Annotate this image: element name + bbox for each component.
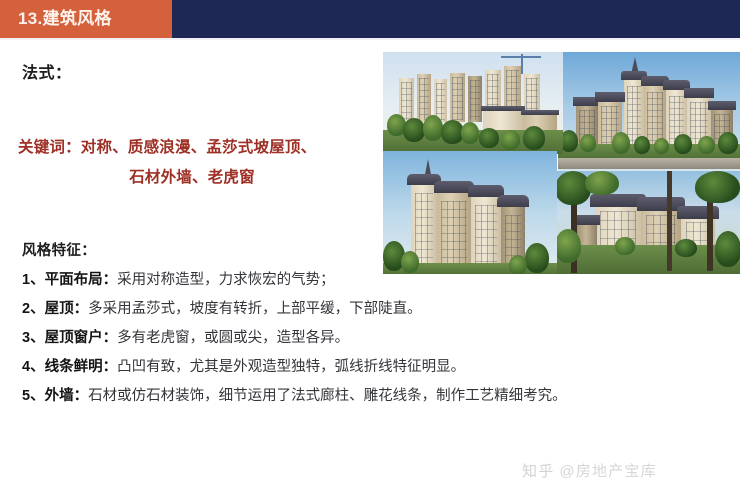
tree xyxy=(674,134,692,154)
tower xyxy=(468,76,482,122)
main-facade xyxy=(437,191,471,274)
crane-jib-icon xyxy=(501,56,541,58)
style-name-heading: 法式： xyxy=(22,59,72,83)
feature-text: 石材或仿石材装饰，细节运用了法式廊柱、雕花线条，制作工艺精细考究。 xyxy=(88,388,567,404)
keywords-line-2: 石材外墙、老虎窗 xyxy=(18,163,384,193)
keywords-block: 关键词：对称、质感浪漫、孟莎式坡屋顶、 石材外墙、老虎窗 xyxy=(18,133,384,193)
shrub xyxy=(615,237,635,255)
tree xyxy=(580,134,596,152)
tree xyxy=(509,255,527,274)
tree xyxy=(718,132,738,154)
high-rise-towers-rendering xyxy=(383,52,563,154)
features-list: 1、平面布局：采用对称造型，力求恢宏的气势； 2、屋顶：多采用孟莎式，坡度有转折… xyxy=(22,266,722,411)
watermark: 知乎@房地产宝库 xyxy=(522,460,657,481)
feature-text: 多有老虎窗，或圆或尖，造型各异。 xyxy=(117,330,349,346)
feature-label: 线条鲜明： xyxy=(45,359,118,375)
section-tab-label: 13.建筑风格 xyxy=(18,0,112,38)
chateau-villa-rendering xyxy=(555,171,740,274)
feature-label: 外墙： xyxy=(45,388,89,404)
tree xyxy=(612,132,630,154)
tree xyxy=(401,251,419,273)
section-tab: 13.建筑风格 xyxy=(0,0,172,38)
shrub xyxy=(715,231,740,267)
tree xyxy=(698,136,715,154)
mid-rise-mansard-block-rendering xyxy=(558,52,740,174)
tree-trunk xyxy=(667,171,672,271)
tree-canopy xyxy=(695,171,740,203)
feature-label: 平面布局： xyxy=(45,272,118,288)
feature-item: 5、外墙：石材或仿石材装饰，细节运用了法式廊柱、雕花线条，制作工艺精细考究。 xyxy=(22,382,722,411)
tree xyxy=(523,126,545,150)
feature-text: 采用对称造型，力求恢宏的气势； xyxy=(117,272,335,288)
slide-header: 13.建筑风格 xyxy=(0,0,740,38)
feature-label: 屋顶： xyxy=(45,301,89,317)
driveway xyxy=(558,158,740,169)
feature-label: 屋顶窗户： xyxy=(45,330,118,346)
feature-number: 5、 xyxy=(22,388,45,404)
tree xyxy=(461,122,479,144)
feature-item: 2、屋顶：多采用孟莎式，坡度有转折，上部平缓，下部陡直。 xyxy=(22,295,722,324)
shrub xyxy=(555,229,581,263)
feature-number: 3、 xyxy=(22,330,45,346)
tree xyxy=(501,130,520,150)
watermark-account: @房地产宝库 xyxy=(559,463,656,480)
feature-item: 4、线条鲜明：凸凹有致，尤其是外观造型独特，弧线折线特征明显。 xyxy=(22,353,722,382)
tree xyxy=(423,115,443,141)
architecture-image-collage xyxy=(383,52,740,274)
tree xyxy=(479,128,499,148)
slide-body: 法式： 关键词：对称、质感浪漫、孟莎式坡屋顶、 石材外墙、老虎窗 风格特征： 1… xyxy=(0,40,740,463)
tree xyxy=(403,118,425,142)
tree xyxy=(654,138,669,154)
feature-number: 1、 xyxy=(22,272,45,288)
tree xyxy=(525,243,549,273)
watermark-platform: 知乎 xyxy=(522,463,554,480)
keywords-line-1: 关键词：对称、质感浪漫、孟莎式坡屋顶、 xyxy=(18,133,384,163)
tower xyxy=(450,73,465,122)
feature-item: 3、屋顶窗户：多有老虎窗，或圆或尖，造型各异。 xyxy=(22,324,722,353)
tree xyxy=(634,136,650,154)
feature-text: 多采用孟莎式，坡度有转折，上部平缓，下部陡直。 xyxy=(88,301,422,317)
mansard-tower-rendering xyxy=(383,151,557,274)
feature-text: 凸凹有致，尤其是外观造型独特，弧线折线特征明显。 xyxy=(117,359,465,375)
shrub xyxy=(675,239,697,257)
tree-canopy xyxy=(585,171,619,195)
feature-number: 2、 xyxy=(22,301,45,317)
features-heading: 风格特征： xyxy=(22,239,96,260)
feature-number: 4、 xyxy=(22,359,45,375)
